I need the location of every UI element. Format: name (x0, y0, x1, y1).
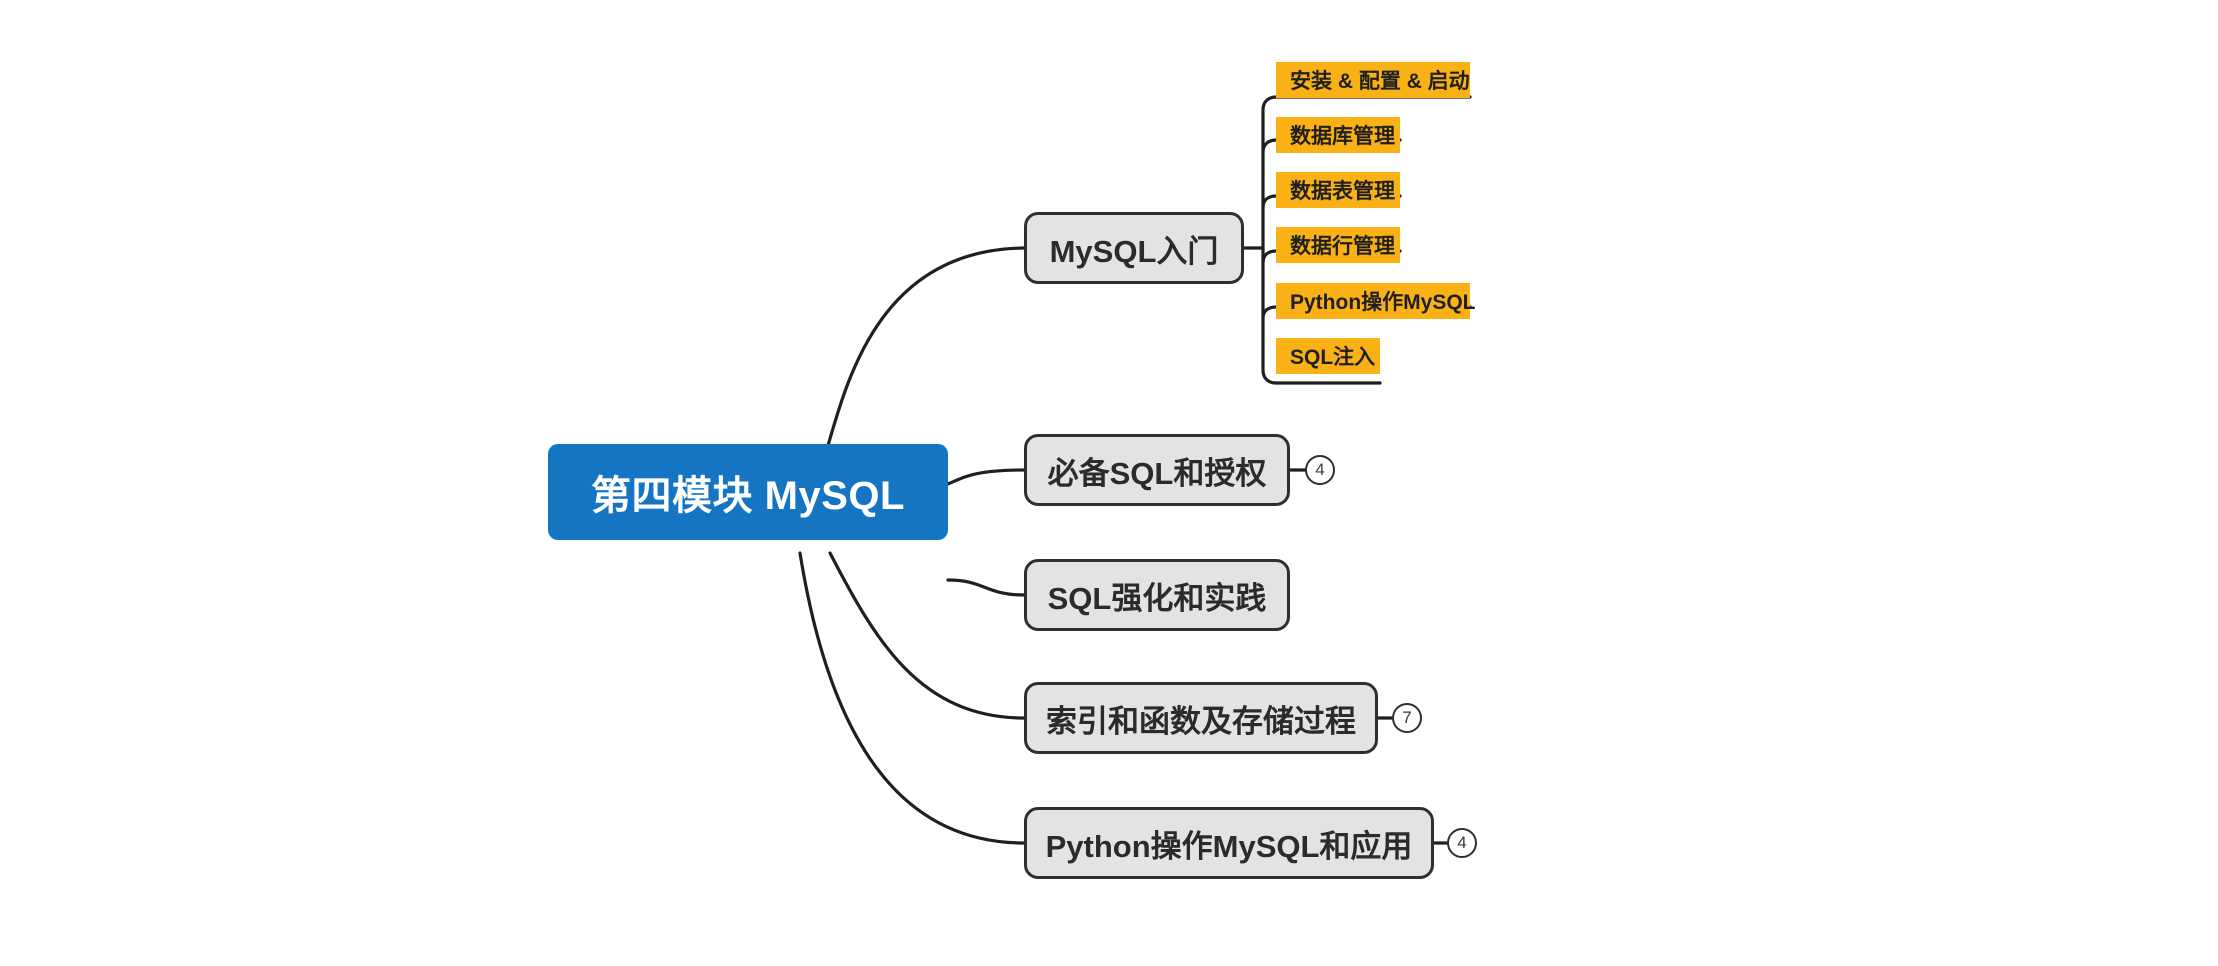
branch-node-essential-sql[interactable]: 必备SQL和授权 (1024, 434, 1290, 506)
branch-node-label: 索引和函数及存储过程 (1046, 696, 1356, 741)
branch-node-index-function-procedure[interactable]: 索引和函数及存储过程 (1024, 682, 1378, 754)
leaf-node-table-management[interactable]: 数据表管理 (1276, 172, 1400, 208)
branch-node-mysql-intro[interactable]: MySQL入门 (1024, 212, 1244, 284)
status-badge-value: 4 (1315, 460, 1324, 480)
branch-node-label: MySQL入门 (1050, 226, 1219, 271)
leaf-node-database-management[interactable]: 数据库管理 (1276, 117, 1400, 153)
leaf-node-label: Python操作MySQL (1290, 286, 1476, 316)
leaf-node-label: 数据行管理 (1290, 230, 1395, 260)
leaf-node-python-mysql[interactable]: Python操作MySQL (1276, 283, 1470, 319)
link-root-to-branch-5 (800, 553, 1024, 843)
mindmap-canvas: 第四模块 MySQL MySQL入门 安装 & 配置 & 启动 数据库管理 数据… (0, 0, 2218, 966)
link-root-to-branch-3 (948, 580, 1024, 595)
root-node[interactable]: 第四模块 MySQL (548, 444, 948, 540)
leaf-node-row-management[interactable]: 数据行管理 (1276, 227, 1400, 263)
branch-node-label: 必备SQL和授权 (1048, 448, 1267, 493)
branch-node-label: SQL强化和实践 (1048, 573, 1267, 618)
branch-node-sql-practice[interactable]: SQL强化和实践 (1024, 559, 1290, 631)
status-badge-value: 4 (1457, 833, 1466, 853)
leaf-node-install-config-start[interactable]: 安装 & 配置 & 启动 (1276, 62, 1470, 98)
leaf-node-label: SQL注入 (1290, 341, 1375, 371)
status-badge-branch-5: 4 (1447, 828, 1477, 858)
status-badge-branch-2: 4 (1305, 455, 1335, 485)
branch-node-python-mysql-app[interactable]: Python操作MySQL和应用 (1024, 807, 1434, 879)
status-badge-value: 7 (1402, 708, 1411, 728)
leaf-node-sql-injection[interactable]: SQL注入 (1276, 338, 1380, 374)
bracket-spine (1263, 97, 1276, 383)
root-node-label: 第四模块 MySQL (591, 463, 905, 521)
leaf-node-label: 数据表管理 (1290, 175, 1395, 205)
leaf-node-label: 数据库管理 (1290, 120, 1395, 150)
link-root-to-branch-4 (830, 553, 1024, 718)
leaf-node-label: 安装 & 配置 & 启动 (1290, 65, 1470, 95)
status-badge-branch-4: 7 (1392, 703, 1422, 733)
branch-node-label: Python操作MySQL和应用 (1046, 821, 1413, 866)
